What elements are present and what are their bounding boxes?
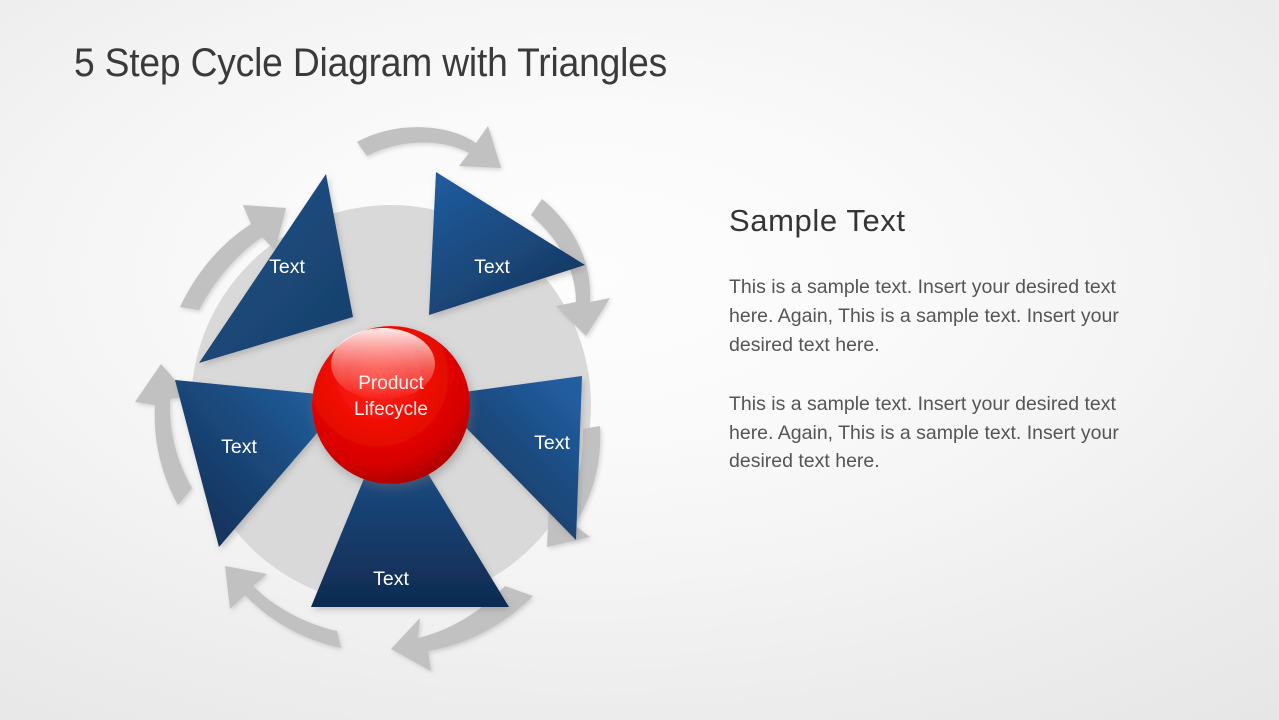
description-panel: Sample Text This is a sample text. Inser… — [729, 204, 1181, 476]
cycle-step-5-label: Text — [269, 256, 305, 278]
cycle-step-3-label: Text — [373, 568, 409, 590]
cycle-step-1-label: Text — [474, 256, 510, 278]
cycle-hub[interactable]: Product Lifecycle — [312, 326, 470, 484]
slide-canvas: 5 Step Cycle Diagram with Triangles — [0, 0, 1279, 720]
cycle-hub-label-line1: Product — [358, 373, 424, 394]
cycle-arrow-top — [357, 126, 501, 168]
page-title: 5 Step Cycle Diagram with Triangles — [74, 41, 667, 86]
panel-paragraph-1: This is a sample text. Insert your desir… — [729, 273, 1165, 360]
panel-paragraph-2: This is a sample text. Insert your desir… — [729, 390, 1165, 477]
cycle-diagram-svg: Text Text Text Text Text — [95, 95, 695, 695]
cycle-hub-label-line2: Lifecycle — [354, 399, 428, 420]
cycle-step-2-label: Text — [534, 432, 570, 454]
cycle-step-4-label: Text — [221, 436, 257, 458]
cycle-diagram: Text Text Text Text Text — [95, 95, 695, 695]
panel-heading: Sample Text — [729, 204, 1181, 238]
